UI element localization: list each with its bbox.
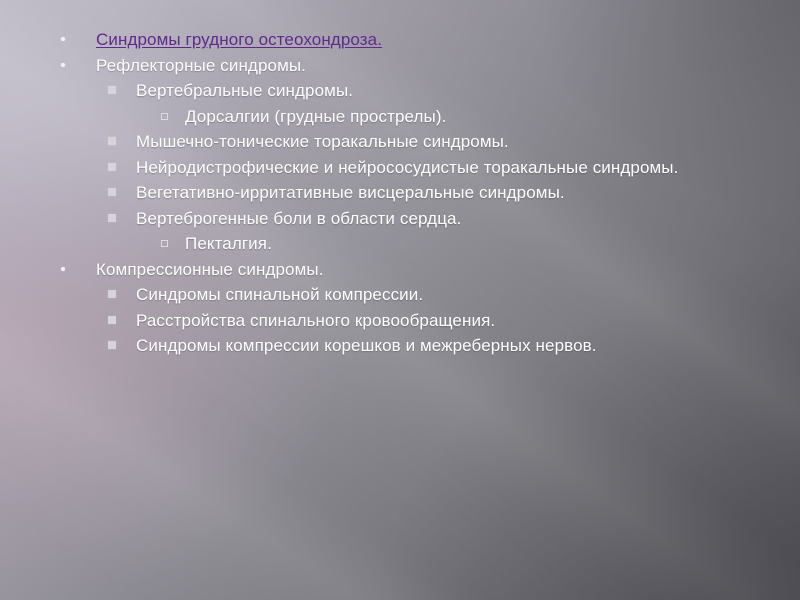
- presentation-slide: Синдромы грудного остеохондроза. Рефлект…: [0, 0, 800, 600]
- bullet-dot-icon: [61, 37, 65, 41]
- outline-item-level3[interactable]: Дорсалгии (грудные прострелы).: [161, 104, 800, 130]
- bullet-square-hollow-icon: [161, 113, 168, 120]
- outline-item-level1[interactable]: Компрессионные синдромы. Синдромы спинал…: [56, 257, 766, 359]
- outline-item-label: Рефлекторные синдромы.: [96, 56, 306, 75]
- slide-content-body: Синдромы грудного остеохондроза. Рефлект…: [0, 0, 800, 600]
- outline-item-label: Мышечно-тонические торакальные синдромы.: [136, 132, 509, 151]
- outline-item-level2[interactable]: Вертеброгенные боли в области сердца. Пе…: [108, 206, 778, 257]
- bullet-square-hollow-icon: [161, 240, 168, 247]
- outline-item-level2[interactable]: Вегетативно-ирритативные висцеральные си…: [108, 180, 778, 206]
- outline-item-label: Дорсалгии (грудные прострелы).: [185, 107, 446, 126]
- outline-item-label: Синдромы компрессии корешков и межреберн…: [136, 336, 597, 355]
- outline-item-label: Вертебральные синдромы.: [136, 81, 353, 100]
- outline-item-label: Расстройства спинального кровообращения.: [136, 311, 495, 330]
- outline-item-label: Нейродистрофические и нейрососудистые то…: [136, 158, 678, 177]
- bullet-square-filled-icon: [108, 214, 116, 222]
- outline-item-level2[interactable]: Мышечно-тонические торакальные синдромы.: [108, 129, 778, 155]
- outline-list-level3: Пекталгия.: [161, 231, 800, 257]
- bullet-square-filled-icon: [108, 86, 116, 94]
- outline-item-label: Вертеброгенные боли в области сердца.: [136, 209, 461, 228]
- outline-item-label: Компрессионные синдромы.: [96, 260, 324, 279]
- outline-item-level1[interactable]: Синдромы грудного остеохондроза.: [56, 27, 766, 53]
- outline-item-level2[interactable]: Вертебральные синдромы. Дорсалгии (грудн…: [108, 78, 778, 129]
- bullet-square-filled-icon: [108, 188, 116, 196]
- outline-item-level1[interactable]: Рефлекторные синдромы. Вертебральные син…: [56, 53, 766, 257]
- bullet-square-filled-icon: [108, 290, 116, 298]
- outline-list-level1: Синдромы грудного остеохондроза. Рефлект…: [56, 27, 766, 359]
- bullet-square-filled-icon: [108, 316, 116, 324]
- outline-item-label: Вегетативно-ирритативные висцеральные си…: [136, 183, 565, 202]
- bullet-dot-icon: [61, 63, 65, 67]
- outline-item-link-label[interactable]: Синдромы грудного остеохондроза.: [96, 30, 382, 49]
- outline-list-level2: Вертебральные синдромы. Дорсалгии (грудн…: [108, 78, 778, 257]
- bullet-dot-icon: [61, 267, 65, 271]
- bullet-square-filled-icon: [108, 137, 116, 145]
- bullet-square-filled-icon: [108, 341, 116, 349]
- bullet-square-filled-icon: [108, 163, 116, 171]
- outline-list-level3: Дорсалгии (грудные прострелы).: [161, 104, 800, 130]
- outline-item-label: Пекталгия.: [185, 234, 272, 253]
- outline-item-level2[interactable]: Синдромы компрессии корешков и межреберн…: [108, 333, 778, 359]
- outline-item-level2[interactable]: Расстройства спинального кровообращения.: [108, 308, 778, 334]
- outline-item-level3[interactable]: Пекталгия.: [161, 231, 800, 257]
- outline-item-label: Синдромы спинальной компрессии.: [136, 285, 423, 304]
- outline-list-level2: Синдромы спинальной компрессии. Расстрой…: [108, 282, 778, 359]
- outline-item-level2[interactable]: Нейродистрофические и нейрососудистые то…: [108, 155, 778, 181]
- outline-item-level2[interactable]: Синдромы спинальной компрессии.: [108, 282, 778, 308]
